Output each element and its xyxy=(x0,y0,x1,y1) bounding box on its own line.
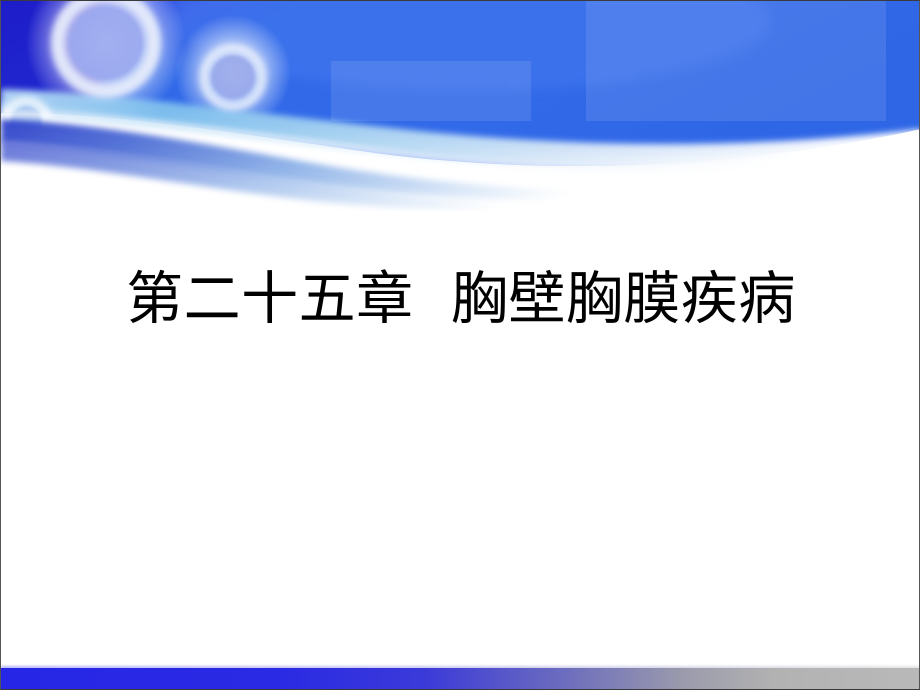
footer-bar-fill xyxy=(1,668,920,689)
slide-title-text: 第二十五章 胸壁胸膜疾病 xyxy=(126,269,796,331)
decorative-header-banner xyxy=(1,1,920,211)
page-title: 第二十五章 胸壁胸膜疾病 xyxy=(1,269,920,331)
presentation-slide: 第二十五章 胸壁胸膜疾病 xyxy=(0,0,920,690)
medium-circle-disc xyxy=(211,55,255,99)
header-art-svg xyxy=(1,1,920,211)
decorative-footer-bar xyxy=(1,666,920,689)
large-circle-disc xyxy=(69,6,143,80)
